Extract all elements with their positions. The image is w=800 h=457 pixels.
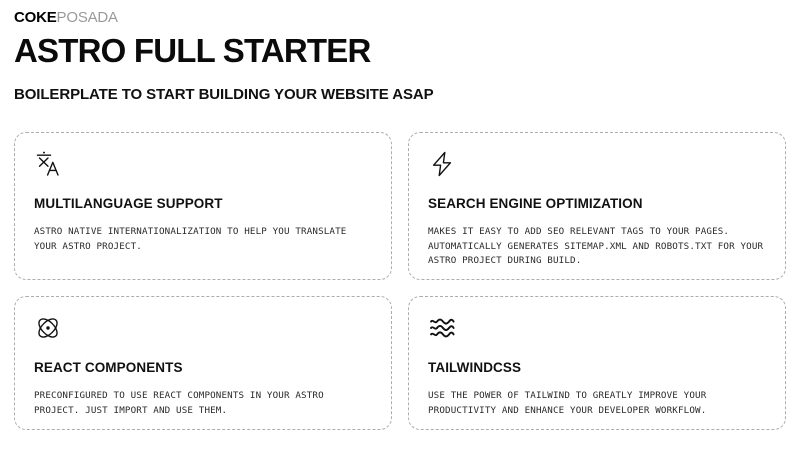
feature-card-title: REACT COMPONENTS — [34, 360, 372, 375]
feature-card-body: MAKES IT EASY TO ADD SEO RELEVANT TAGS T… — [428, 225, 766, 270]
feature-card-body: ASTRO NATIVE INTERNATIONALIZATION TO HEL… — [34, 225, 372, 255]
feature-card-tailwindcss: TAILWINDCSS USE THE POWER OF TAILWIND TO… — [408, 296, 786, 430]
feature-card-title: SEARCH ENGINE OPTIMIZATION — [428, 196, 766, 211]
feature-card-body: PRECONFIGURED TO USE REACT COMPONENTS IN… — [34, 389, 372, 419]
page-title: ASTRO FULL STARTER — [14, 34, 786, 69]
feature-card-search-engine-optimization: SEARCH ENGINE OPTIMIZATION MAKES IT EASY… — [408, 132, 786, 280]
feature-card-title: MULTILANGUAGE SUPPORT — [34, 196, 372, 211]
page-subtitle: BOILERPLATE TO START BUILDING YOUR WEBSI… — [14, 86, 786, 103]
translate-icon — [34, 150, 62, 178]
feature-card-multilanguage-support: MULTILANGUAGE SUPPORT ASTRO NATIVE INTER… — [14, 132, 392, 280]
feature-card-title: TAILWINDCSS — [428, 360, 766, 375]
atom-icon — [34, 314, 62, 342]
site-logo[interactable]: COKE POSADA — [14, 0, 786, 24]
page-root: COKE POSADA ASTRO FULL STARTER BOILERPLA… — [0, 0, 800, 457]
lightning-bolt-icon — [428, 150, 456, 178]
waves-icon — [428, 314, 456, 342]
feature-card-body: USE THE POWER OF TAILWIND TO GREATLY IMP… — [428, 389, 766, 419]
logo-secondary-text: POSADA — [57, 9, 118, 26]
feature-card-grid: MULTILANGUAGE SUPPORT ASTRO NATIVE INTER… — [14, 132, 786, 430]
feature-card-react-components: REACT COMPONENTS PRECONFIGURED TO USE RE… — [14, 296, 392, 430]
logo-primary-text: COKE — [14, 9, 57, 26]
